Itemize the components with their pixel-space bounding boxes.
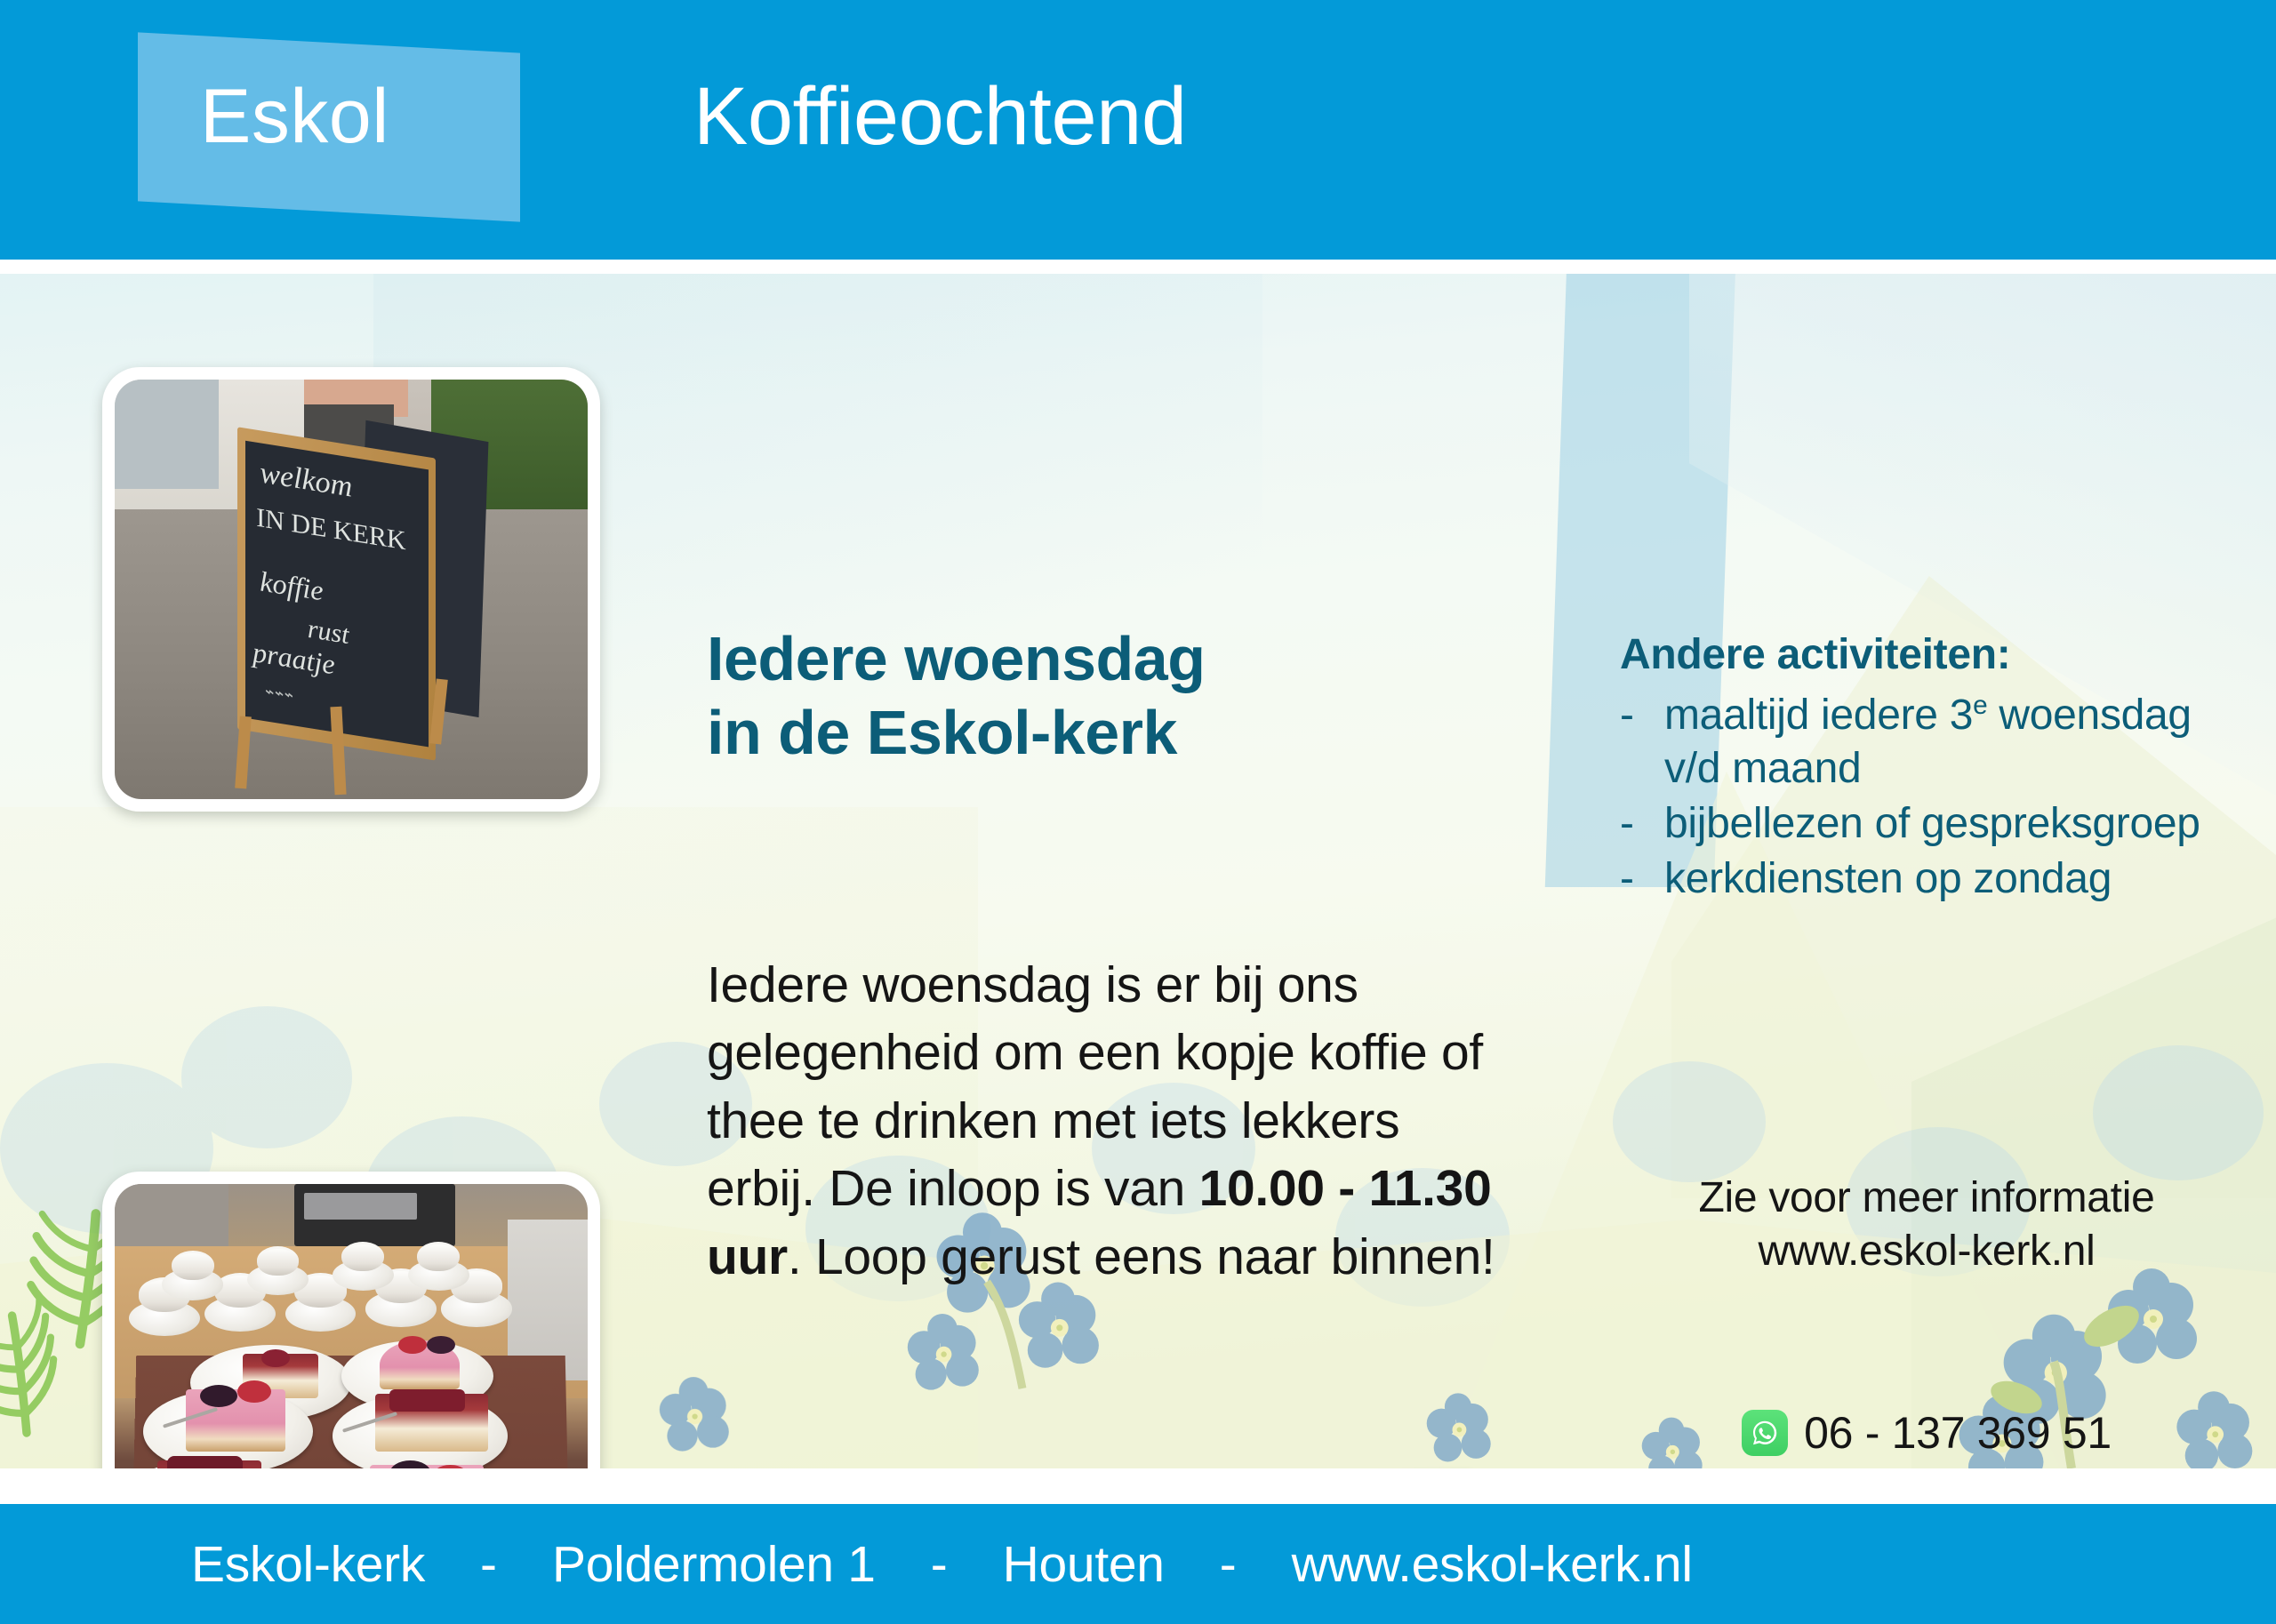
footer-separator: -	[425, 1535, 552, 1594]
header-bar: Eskol Koffieochtend	[0, 0, 2276, 260]
photo-image: welkom IN DE KERK koffie rust praatje ⌁⌁…	[115, 380, 588, 799]
body-paragraph: Iedere woensdag is er bij ons gelegenhei…	[707, 951, 1507, 1291]
list-item-label: bijbellezen of gespreksgroep	[1664, 800, 2200, 847]
footer-separator: -	[876, 1535, 1003, 1594]
more-information-block: Zie voor meer informatie www.eskol-kerk.…	[1620, 1172, 2233, 1279]
bullet-dash: -	[1620, 689, 1634, 742]
content-area: welkom IN DE KERK koffie rust praatje ⌁⌁…	[0, 274, 2276, 1468]
whatsapp-icon	[1742, 1410, 1788, 1456]
phone-number[interactable]: 06 - 137 369 51	[1804, 1407, 2112, 1459]
headline-line-1: Iedere woensdag	[707, 622, 1489, 696]
footer-city: Houten	[1003, 1535, 1165, 1594]
footer-bar: Eskol-kerk - Poldermolen 1 - Houten - ww…	[0, 1504, 2276, 1624]
bullet-dash: -	[1620, 797, 1634, 851]
list-item-label: kerkdiensten op zondag	[1664, 855, 2112, 902]
list-item: -kerkdiensten op zondag	[1620, 852, 2233, 906]
list-item: -maaltijd iedere 3e woensdag v/d maand	[1620, 689, 2233, 796]
other-activities-list: -maaltijd iedere 3e woensdag v/d maand -…	[1620, 689, 2233, 906]
logo-text: Eskol	[200, 78, 467, 155]
body-text-part-2: . Loop gerust eens naar binnen!	[788, 1228, 1495, 1285]
footer-website[interactable]: www.eskol-kerk.nl	[1292, 1535, 1693, 1594]
cakes-and-coffee-photo	[102, 1172, 600, 1468]
other-activities-title: Andere activiteiten:	[1620, 629, 2233, 682]
bullet-dash: -	[1620, 852, 1634, 906]
headline-line-2: in de Eskol-kerk	[707, 696, 1489, 770]
footer-separator: -	[1165, 1535, 1292, 1594]
footer-street: Poldermolen 1	[552, 1535, 876, 1594]
footer-content: Eskol-kerk - Poldermolen 1 - Houten - ww…	[191, 1504, 1693, 1624]
website-link[interactable]: www.eskol-kerk.nl	[1620, 1225, 2233, 1278]
main-headline: Iedere woensdag in de Eskol-kerk	[707, 622, 1489, 769]
photo-image	[115, 1184, 588, 1468]
page-title: Koffieochtend	[693, 76, 1186, 157]
other-activities-block: Andere activiteiten: -maaltijd iedere 3e…	[1620, 629, 2233, 908]
more-information-label: Zie voor meer informatie	[1620, 1172, 2233, 1225]
whatsapp-phone-row[interactable]: 06 - 137 369 51	[1620, 1407, 2233, 1459]
poster-canvas: Eskol Koffieochtend	[0, 0, 2276, 1624]
footer-org-name: Eskol-kerk	[191, 1535, 425, 1594]
list-item-label: maaltijd iedere 3	[1664, 692, 1973, 739]
list-item: -bijbellezen of gespreksgroep	[1620, 797, 2233, 851]
ordinal-suffix: e	[1973, 691, 1987, 720]
chalkboard-sign-photo: welkom IN DE KERK koffie rust praatje ⌁⌁…	[102, 367, 600, 812]
